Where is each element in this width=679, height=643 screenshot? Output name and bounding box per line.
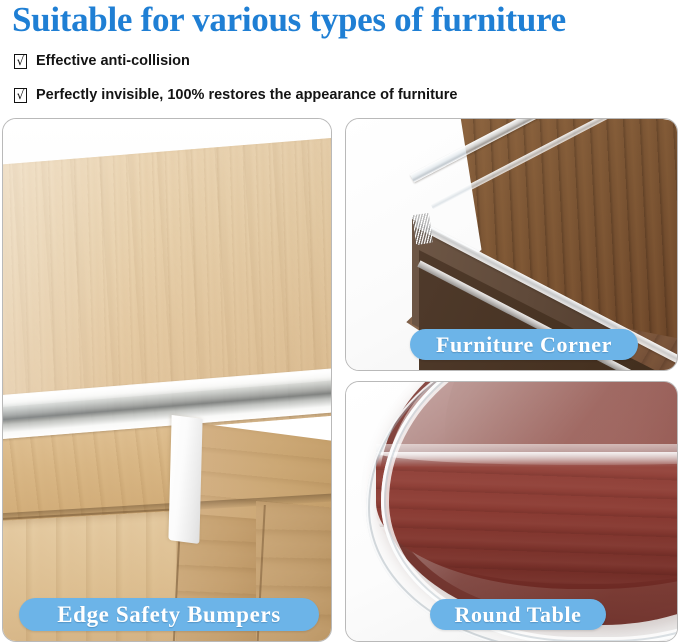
panel-furniture-corner: Furniture Corner (345, 118, 678, 371)
panel-label-round-table: Round Table (430, 599, 606, 630)
list-item: √ Perfectly invisible, 100% restores the… (14, 82, 664, 108)
panel-label-edge-safety-bumpers: Edge Safety Bumpers (19, 598, 319, 631)
page-title: Suitable for various types of furniture (12, 0, 672, 41)
panel-label-furniture-corner: Furniture Corner (410, 329, 638, 360)
list-item: √ Effective anti-collision (14, 48, 664, 74)
header: Suitable for various types of furniture … (0, 0, 679, 112)
panel-edge-safety-bumpers: Edge Safety Bumpers (2, 118, 332, 642)
panel-round-table: Round Table (345, 381, 678, 642)
product-photo-edge-bumper (3, 119, 331, 641)
bumper-corner-cap (169, 415, 203, 544)
bullet-label: Perfectly invisible, 100% restores the a… (36, 87, 457, 103)
bullet-label: Effective anti-collision (36, 53, 190, 69)
checkmark-icon: √ (14, 54, 27, 69)
feature-bullet-list: √ Effective anti-collision √ Perfectly i… (14, 48, 664, 116)
checkmark-icon: √ (14, 88, 27, 103)
